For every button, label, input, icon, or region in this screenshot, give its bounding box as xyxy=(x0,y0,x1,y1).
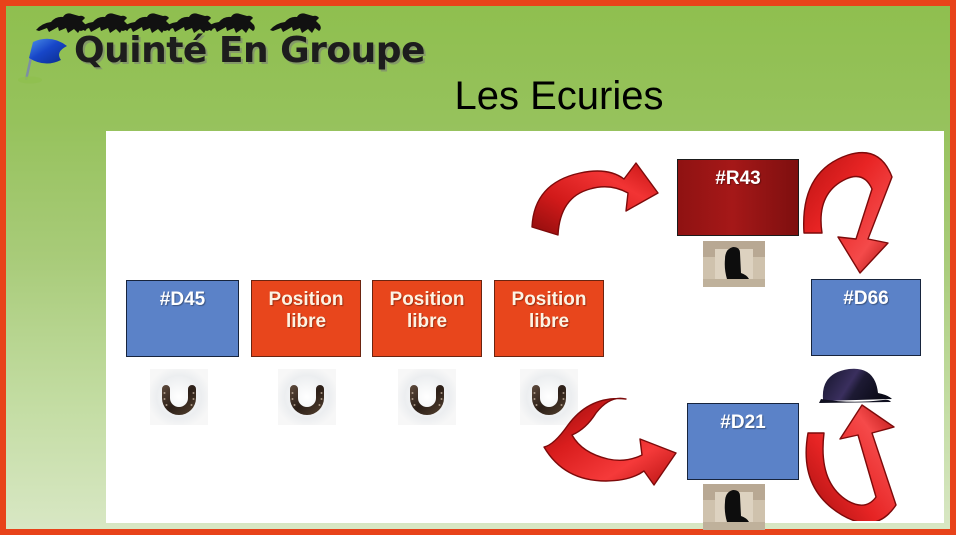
jockey-cap-icon xyxy=(811,359,895,409)
horseshoe-icon xyxy=(278,369,336,425)
riding-boot-icon xyxy=(703,484,765,530)
horseshoe-icon xyxy=(150,369,208,425)
brand-name: Quinté En Groupe xyxy=(74,30,425,71)
stall-box-d66[interactable]: #D66 xyxy=(811,279,921,356)
page-title: Les Ecuries xyxy=(6,74,956,119)
stall-box-d45[interactable]: #D45 xyxy=(126,280,239,357)
arrow-curve-down-right xyxy=(536,393,686,503)
arrow-curve-up-right xyxy=(524,141,664,251)
horseshoe-icon xyxy=(398,369,456,425)
slide: Quinté En Groupe Les Ecuries #D45 Positi… xyxy=(0,0,956,535)
stall-box-d21[interactable]: #D21 xyxy=(687,403,799,480)
stall-box-free-1[interactable]: Position libre xyxy=(251,280,361,357)
stall-box-free-2[interactable]: Position libre xyxy=(372,280,482,357)
stall-box-free-3[interactable]: Position libre xyxy=(494,280,604,357)
stall-box-r43[interactable]: #R43 xyxy=(677,159,799,236)
riding-boot-icon xyxy=(703,241,765,287)
arrow-arc-up xyxy=(794,403,904,521)
diagram-canvas: #D45 Position libre Position libre Posit… xyxy=(106,131,944,523)
arrow-arc-down xyxy=(794,141,904,281)
